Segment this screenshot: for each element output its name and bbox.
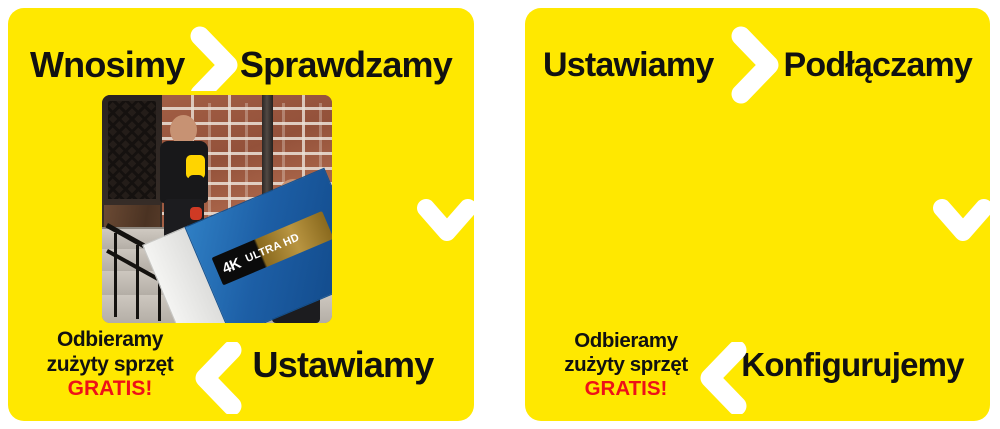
pickup-line-1: Odbieramy	[57, 328, 163, 351]
step-label-ustawiamy: Ustawiamy	[543, 48, 713, 82]
chevron-left-icon	[697, 342, 749, 414]
chevron-right-icon	[730, 26, 780, 104]
pickup-line-2: zużyty sprzęt	[564, 353, 688, 376]
card-header: Wnosimy Sprawdzamy	[8, 36, 474, 94]
step-label-podlaczamy: Podłączamy	[783, 48, 972, 82]
step-label-sprawdzamy: Sprawdzamy	[240, 47, 452, 83]
delivery-steps-card: Wnosimy Sprawdzamy	[8, 8, 474, 421]
pickup-free-badge: GRATIS!	[26, 377, 194, 401]
delivery-photo: 4K ULTRA HD	[102, 95, 332, 323]
pickup-free-badge: GRATIS!	[543, 377, 709, 401]
pickup-line-2: zużyty sprzęt	[47, 353, 174, 376]
card-footer: Odbieramy zużyty sprzęt GRATIS! Konfigur…	[525, 323, 990, 407]
promo-banner: Wnosimy Sprawdzamy	[0, 0, 1000, 429]
tv-label-ultrahd: ULTRA HD	[237, 232, 301, 268]
chevron-right-icon	[188, 26, 240, 104]
pickup-offer: Odbieramy zużyty sprzęt GRATIS!	[26, 328, 194, 401]
pickup-offer: Odbieramy zużyty sprzęt GRATIS!	[543, 329, 709, 400]
chevron-down-icon	[932, 194, 990, 248]
installation-steps-card: Ustawiamy Podłączamy	[525, 8, 990, 421]
chevron-down-icon	[416, 194, 474, 248]
chevron-left-icon	[192, 342, 244, 414]
pickup-line-1: Odbieramy	[574, 329, 678, 352]
step-label-wnosimy: Wnosimy	[30, 47, 184, 83]
